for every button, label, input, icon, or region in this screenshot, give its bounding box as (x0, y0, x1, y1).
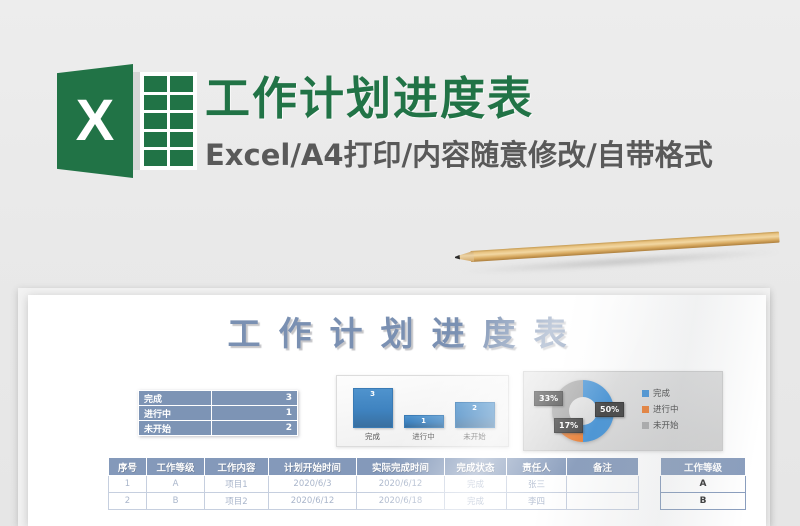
cell-index: 2 (109, 493, 147, 510)
pie-chart: 50% 17% 33% 完成 进行中 未开始 (523, 371, 723, 451)
page-subtitle: Excel/A4打印/内容随意修改/自带格式 (205, 132, 713, 174)
col-header-index: 序号 (109, 458, 147, 476)
table-row: 进行中 1 (139, 406, 298, 421)
grid-cell (170, 132, 193, 148)
grid-cell (144, 132, 167, 148)
table-header-row: 序号 工作等级 工作内容 计划开始时间 实际完成时间 完成状态 责任人 备注 (109, 458, 639, 476)
bar-item: 3 (353, 388, 393, 428)
bar-value-label: 1 (404, 415, 444, 428)
legend-item: 进行中 (642, 403, 679, 415)
legend-swatch-icon (642, 406, 649, 413)
summary-label: 未开始 (139, 421, 212, 436)
grid-cell (144, 95, 167, 111)
cell-actual-finish: 2020/6/12 (357, 476, 445, 493)
cell-index: 1 (109, 476, 147, 493)
pie-chart-legend: 完成 进行中 未开始 (642, 387, 679, 431)
page-title: 工作计划进度表 (205, 62, 534, 127)
pie-slice-label: 17% (554, 418, 583, 433)
legend-label: 未开始 (653, 419, 679, 431)
cell-plan-start: 2020/6/3 (269, 476, 357, 493)
col-header-level: 工作等级 (147, 458, 205, 476)
bar-category-label: 进行中 (404, 431, 444, 442)
cell-remark (567, 476, 639, 493)
cell-status: 完成 (445, 476, 507, 493)
grid-cell (170, 150, 193, 166)
cell-remark (567, 493, 639, 510)
cell-status: 完成 (445, 493, 507, 510)
table-row: B (661, 493, 746, 510)
cell-actual-finish: 2020/6/18 (357, 493, 445, 510)
legend-item: 完成 (642, 387, 679, 399)
col-header-content: 工作内容 (205, 458, 269, 476)
summary-value: 2 (212, 421, 298, 436)
bar-value-label: 3 (353, 388, 393, 428)
col-header-status: 完成状态 (445, 458, 507, 476)
bar-value-label: 2 (455, 402, 495, 428)
worksheet-title: 工作计划进度表 (28, 307, 766, 355)
grid-cell (144, 150, 167, 166)
legend-label: 完成 (653, 387, 670, 399)
excel-logo-letter: X (57, 64, 133, 178)
legend-swatch-icon (642, 390, 649, 397)
paper-sheet: 工作计划进度表 完成 3 进行中 1 未开始 2 3 1 2 (28, 295, 766, 526)
cell-plan-start: 2020/6/12 (269, 493, 357, 510)
cell-level: B (661, 493, 746, 510)
bar-chart: 3 1 2 完成 进行中 未开始 (336, 375, 509, 447)
cell-owner: 张三 (507, 476, 567, 493)
excel-logo-grid-icon (140, 72, 197, 170)
table-row: 1 A 项目1 2020/6/3 2020/6/12 完成 张三 (109, 476, 639, 493)
col-header-remark: 备注 (567, 458, 639, 476)
bar-item: 1 (404, 415, 444, 428)
summary-table: 完成 3 进行中 1 未开始 2 (138, 390, 298, 436)
cell-owner: 李四 (507, 493, 567, 510)
cell-content: 项目2 (205, 493, 269, 510)
cell-level: A (147, 476, 205, 493)
pencil-tip-wood (458, 251, 475, 263)
pencil-tip-lead (455, 255, 460, 260)
table-row: 未开始 2 (139, 421, 298, 436)
bar-category-label: 未开始 (455, 431, 495, 442)
summary-value: 1 (212, 406, 298, 421)
pie-slice-label: 50% (595, 402, 624, 417)
col-header-level: 工作等级 (661, 458, 746, 476)
cell-level: A (661, 476, 746, 493)
legend-label: 进行中 (653, 403, 679, 415)
summary-label: 完成 (139, 391, 212, 406)
summary-label: 进行中 (139, 406, 212, 421)
header-banner: X 工作计划进度表 Excel/A4打印/内容随意修改/自带格式 (0, 0, 800, 255)
pie-slice-label: 33% (534, 391, 563, 406)
excel-logo: X (57, 62, 197, 180)
grid-cell (170, 76, 193, 92)
plan-table: 序号 工作等级 工作内容 计划开始时间 实际完成时间 完成状态 责任人 备注 1… (108, 457, 639, 510)
bar-chart-axis: 完成 进行中 未开始 (337, 429, 510, 443)
col-header-plan-start: 计划开始时间 (269, 458, 357, 476)
cell-content: 项目1 (205, 476, 269, 493)
bar-chart-plot: 3 1 2 (337, 382, 510, 428)
grid-cell (170, 113, 193, 129)
cell-level: B (147, 493, 205, 510)
grid-cell (144, 113, 167, 129)
bar-category-label: 完成 (353, 431, 393, 442)
table-header-row: 工作等级 (661, 458, 746, 476)
col-header-owner: 责任人 (507, 458, 567, 476)
summary-value: 3 (212, 391, 298, 406)
table-row: A (661, 476, 746, 493)
legend-swatch-icon (642, 422, 649, 429)
table-row: 完成 3 (139, 391, 298, 406)
bar-item: 2 (455, 402, 495, 428)
grid-cell (170, 95, 193, 111)
grid-cell (144, 76, 167, 92)
legend-item: 未开始 (642, 419, 679, 431)
col-header-actual-finish: 实际完成时间 (357, 458, 445, 476)
table-row: 2 B 项目2 2020/6/12 2020/6/18 完成 李四 (109, 493, 639, 510)
level-lookup-table: 工作等级 A B (660, 457, 746, 510)
